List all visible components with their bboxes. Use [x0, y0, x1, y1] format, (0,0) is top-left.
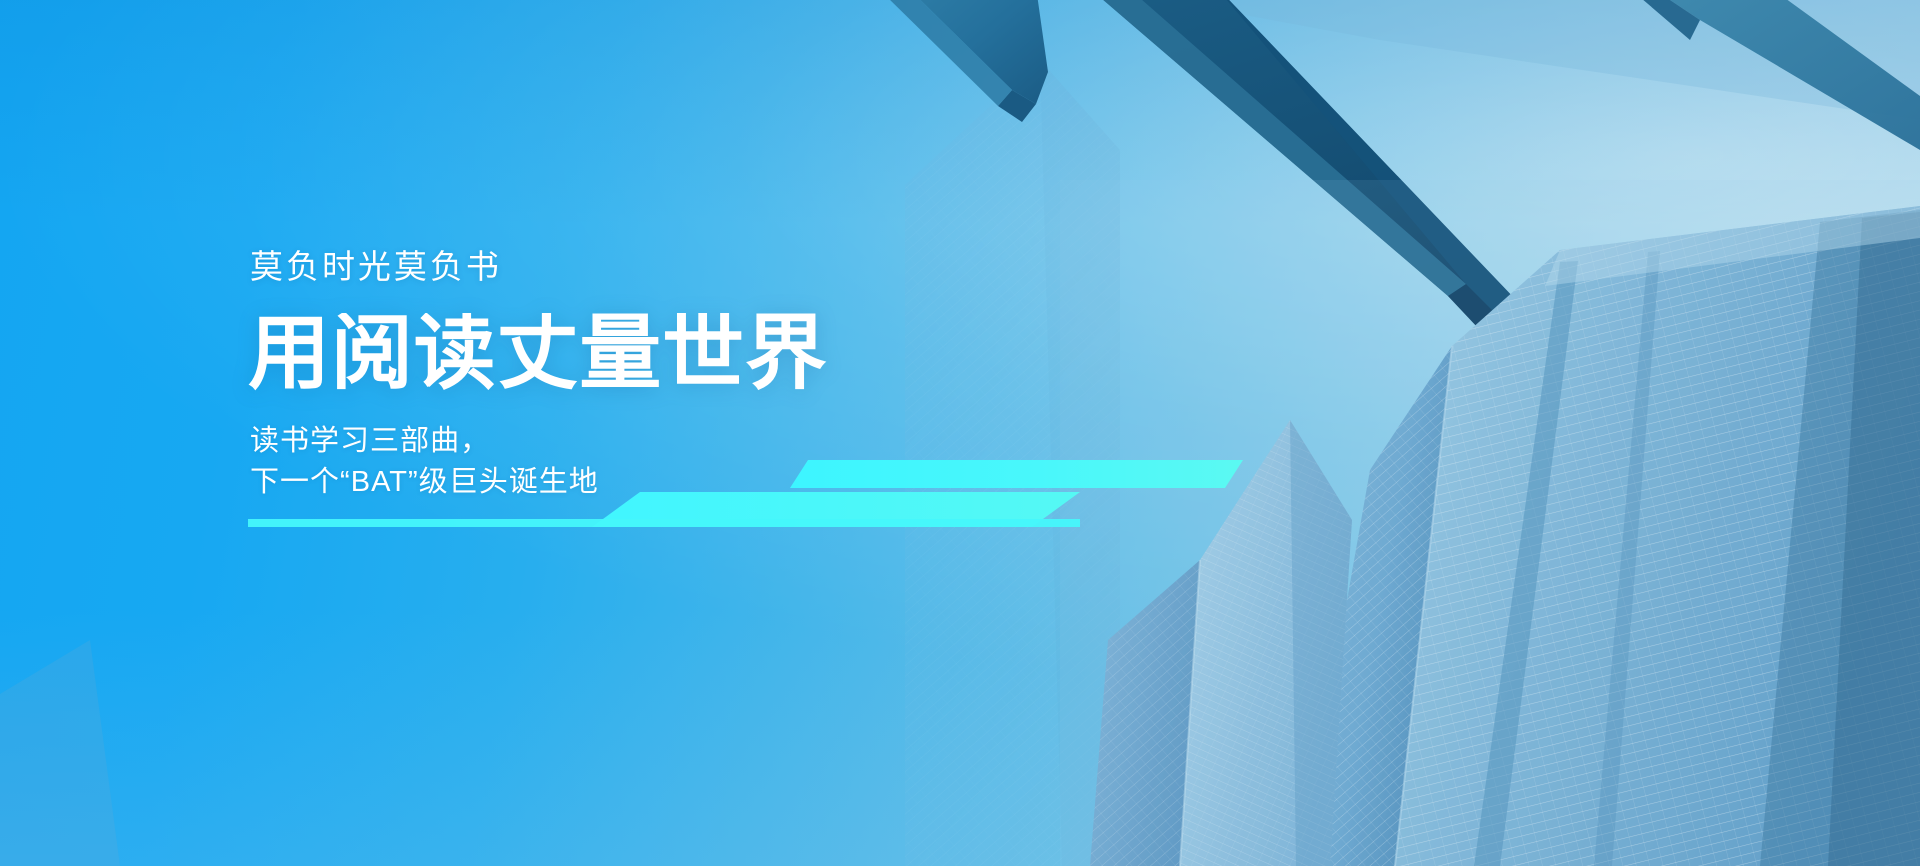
- hero-subtitle-line-1: 读书学习三部曲，: [250, 421, 1348, 462]
- hero-tagline: 莫负时光莫负书: [250, 250, 1348, 283]
- hero-headline: 用阅读丈量世界: [248, 313, 1348, 395]
- banner-hero: 莫负时光莫负书 用阅读丈量世界 读书学习三部曲， 下一个“BAT”级巨头诞生地: [0, 0, 1920, 866]
- hero-subtitle: 读书学习三部曲， 下一个“BAT”级巨头诞生地: [250, 421, 1348, 503]
- building-beam-left: [884, 0, 1048, 122]
- skyscraper-faint-left: [0, 640, 120, 866]
- hero-copy: 莫负时光莫负书 用阅读丈量世界 读书学习三部曲， 下一个“BAT”级巨头诞生地: [248, 250, 1348, 503]
- hero-subtitle-line-2: 下一个“BAT”级巨头诞生地: [250, 462, 1348, 503]
